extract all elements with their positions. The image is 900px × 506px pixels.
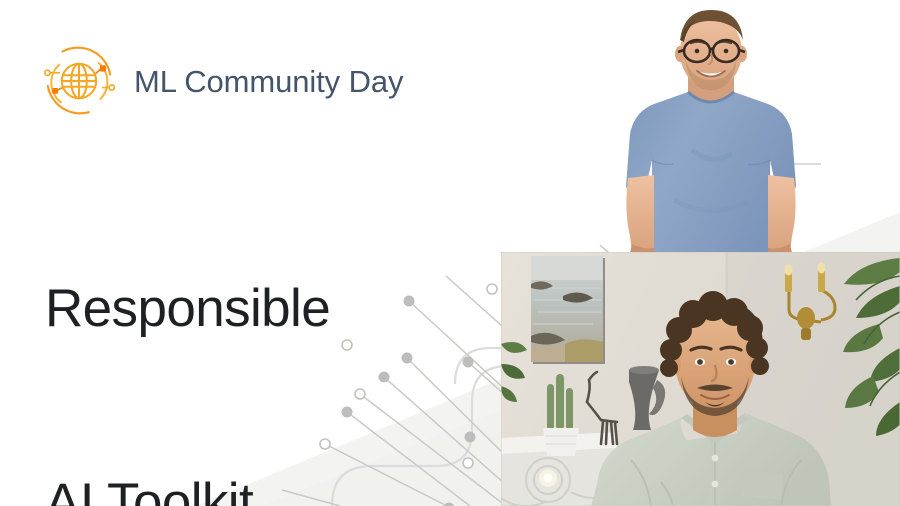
presentation-slide: ML Community Day Responsible AI Toolkit — [0, 0, 900, 506]
brand-lockup: ML Community Day — [38, 40, 403, 122]
speaker-video-tile[interactable] — [501, 252, 900, 506]
presenter-cutout-photo — [592, 0, 832, 253]
headline-line-1: Responsible — [45, 277, 330, 342]
headline-line-2: AI Toolkit — [45, 471, 330, 506]
circuit-node-solid — [342, 296, 513, 506]
globe-orbit-logo-icon — [38, 40, 120, 122]
circuit-node-hollow — [320, 284, 497, 468]
slide-headline: Responsible AI Toolkit — [45, 148, 330, 506]
brand-wordmark: ML Community Day — [134, 66, 403, 97]
seascape-painting — [531, 256, 605, 364]
presenter-head — [675, 10, 747, 90]
